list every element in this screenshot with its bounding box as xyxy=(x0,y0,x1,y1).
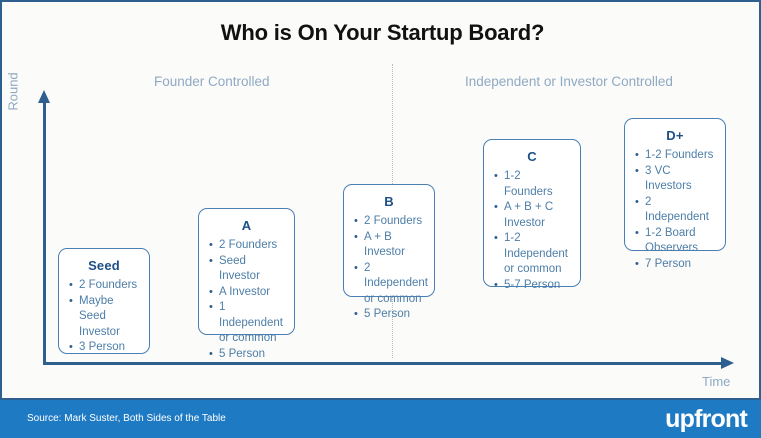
x-axis-arrow-icon xyxy=(721,357,734,369)
stage-title: D+ xyxy=(634,128,716,143)
stage-item-list: 1-2 Founders 3 VC Investors 2 Independen… xyxy=(634,148,716,272)
y-axis-label: Round xyxy=(6,72,21,110)
stage-card-c: C 1-2 Founders A + B + C Investor 1-2 In… xyxy=(483,139,581,287)
stage-list-item: 1-2 Independent or common xyxy=(493,231,571,278)
chart-canvas: Who is On Your Startup Board? Founder Co… xyxy=(0,0,761,400)
x-axis-line xyxy=(43,362,723,365)
stage-list-item: 5 Person xyxy=(208,347,285,363)
stage-item-list: 2 Founders Seed Investor A Investor 1 In… xyxy=(208,238,285,362)
stage-list-item: A + B Investor xyxy=(353,230,425,261)
stage-list-item: 1-2 Founders xyxy=(634,148,716,164)
upfront-logo: upfront xyxy=(665,405,747,434)
stage-title: A xyxy=(208,218,285,233)
stage-list-item: 2 Independent xyxy=(634,195,716,226)
stage-item-list: 2 Founders Maybe Seed Investor 3 Person xyxy=(68,278,140,356)
stage-list-item: Maybe Seed Investor xyxy=(68,294,140,341)
stage-title: C xyxy=(493,149,571,164)
stage-list-item: A Investor xyxy=(208,285,285,301)
stage-list-item: 2 Founders xyxy=(68,278,140,294)
footer-bar: Source: Mark Suster, Both Sides of the T… xyxy=(0,400,761,438)
stage-list-item: Seed Investor xyxy=(208,254,285,285)
y-axis-arrow-icon xyxy=(38,90,50,103)
stage-title: Seed xyxy=(68,258,140,273)
stage-list-item: 1-2 Founders xyxy=(493,169,571,200)
y-axis-line xyxy=(43,102,46,364)
stage-list-item: 2 Founders xyxy=(208,238,285,254)
section-header-founder-controlled: Founder Controlled xyxy=(154,74,270,89)
stage-card-a: A 2 Founders Seed Investor A Investor 1 … xyxy=(198,208,295,335)
stage-title: B xyxy=(353,194,425,209)
stage-item-list: 1-2 Founders A + B + C Investor 1-2 Inde… xyxy=(493,169,571,293)
stage-list-item: 3 VC Investors xyxy=(634,164,716,195)
section-header-investor-controlled: Independent or Investor Controlled xyxy=(465,74,673,89)
footer-source-text: Source: Mark Suster, Both Sides of the T… xyxy=(27,413,226,424)
page-title: Who is On Your Startup Board? xyxy=(2,20,761,46)
stage-list-item: 3 Person xyxy=(68,340,140,356)
stage-card-b: B 2 Founders A + B Investor 2 Independen… xyxy=(343,184,435,297)
stage-list-item: 5-7 Person xyxy=(493,278,571,294)
stage-list-item: 2 Independent or common xyxy=(353,261,425,308)
stage-list-item: 5 Person xyxy=(353,307,425,323)
stage-list-item: 2 Founders xyxy=(353,214,425,230)
stage-list-item: A + B + C Investor xyxy=(493,200,571,231)
stage-list-item: 1-2 Board Observers xyxy=(634,226,716,257)
infographic-page: Who is On Your Startup Board? Founder Co… xyxy=(0,0,761,438)
x-axis-label: Time xyxy=(702,374,730,389)
stage-card-seed: Seed 2 Founders Maybe Seed Investor 3 Pe… xyxy=(58,248,150,354)
stage-item-list: 2 Founders A + B Investor 2 Independent … xyxy=(353,214,425,323)
stage-card-d-plus: D+ 1-2 Founders 3 VC Investors 2 Indepen… xyxy=(624,118,726,251)
stage-list-item: 7 Person xyxy=(634,257,716,273)
stage-list-item: 1 Independent or common xyxy=(208,300,285,347)
